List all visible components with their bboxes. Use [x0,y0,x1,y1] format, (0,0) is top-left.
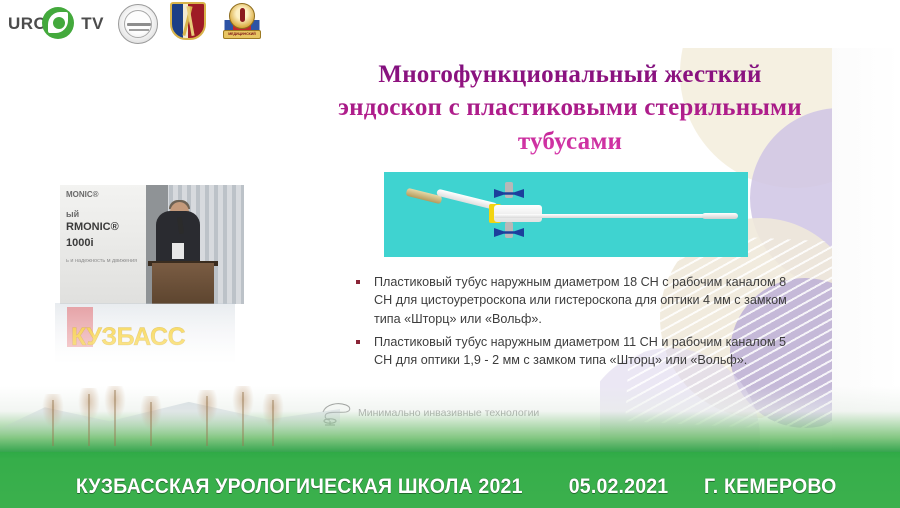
bullet-text: Пластиковый тубус наружным диаметром 11 … [374,335,786,367]
footer-event-name: КУЗБАССКАЯ УРОЛОГИЧЕСКАЯ ШКОЛА 2021 [76,475,523,499]
urotv-logo-tv-text: TV [81,14,104,34]
podium [152,263,214,304]
tree-trunk [114,390,116,446]
urotv-logo: URO TV [8,6,104,42]
bullet-marker-icon [356,280,360,284]
endoscope-stem-bottom [505,222,513,238]
tree-trunk [206,396,208,446]
speaker-video-thumbnail[interactable]: MONIC® ый RMONIC® 1000i ь и надежность м… [60,185,244,304]
video-banner-line1: MONIC® [66,190,99,199]
video-banner-line4: 1000i [66,237,94,249]
footer-city: Г. КЕМЕРОВО [704,475,837,499]
tree-trunk [88,394,90,446]
kuzbass-word: КУЗБАСС [71,323,185,352]
bullet-marker-icon [356,340,360,344]
event-footer-banner: КУЗБАССКАЯ УРОЛОГИЧЕСКАЯ ШКОЛА 2021 05.0… [0,452,900,508]
university-emblem-logo: МЕДИЦИНСКИЙ УНИВЕРСИТЕТ [216,3,268,45]
tree-trunk [150,402,152,446]
speaker-badge [172,243,184,259]
urotv-leaf-icon [42,7,74,39]
footer-date: 05.02.2021 [569,475,669,499]
shield-emblem-logo [170,2,206,46]
seal-bar-icon [127,23,151,26]
tree-trunk [52,400,54,446]
presentation-slide: Многофункциональный жесткий эндоскоп с п… [0,48,900,452]
endoscope-photo [384,172,748,257]
top-logo-bar: URO TV МЕДИЦИНСКИЙ УНИВЕРСИТЕТ [0,0,900,48]
bullet-text: Пластиковый тубус наружным диаметром 18 … [374,275,787,326]
endoscope-shaft [494,214,734,218]
slide-title: Многофункциональный жесткий эндоскоп с п… [330,58,810,158]
footer-text-row: КУЗБАССКАЯ УРОЛОГИЧЕСКАЯ ШКОЛА 2021 05.0… [0,470,900,504]
list-item: Пластиковый тубус наружным диаметром 11 … [352,333,807,370]
video-banner-line2: ый [66,209,79,219]
medical-seal-logo [118,4,158,44]
endoscope-tip [702,213,738,219]
list-item: Пластиковый тубус наружным диаметром 18 … [352,273,807,328]
tree-trunk [272,400,274,446]
video-banner-line5: ь и надежность м движения [66,257,137,266]
emblem-caption: МЕДИЦИНСКИЙ УНИВЕРСИТЕТ [223,30,261,39]
video-banner-line3: RMONIC® [66,221,119,233]
slide-bullet-list: Пластиковый тубус наружным диаметром 18 … [352,273,807,374]
kuzbass-graphic: КУЗБАСС [55,303,235,363]
tree-trunk [242,392,244,446]
emblem-torch-icon [229,3,255,29]
endoscope-stem-top [505,182,513,198]
seal-bar2-icon [129,29,149,31]
forest-background-band [0,386,900,452]
